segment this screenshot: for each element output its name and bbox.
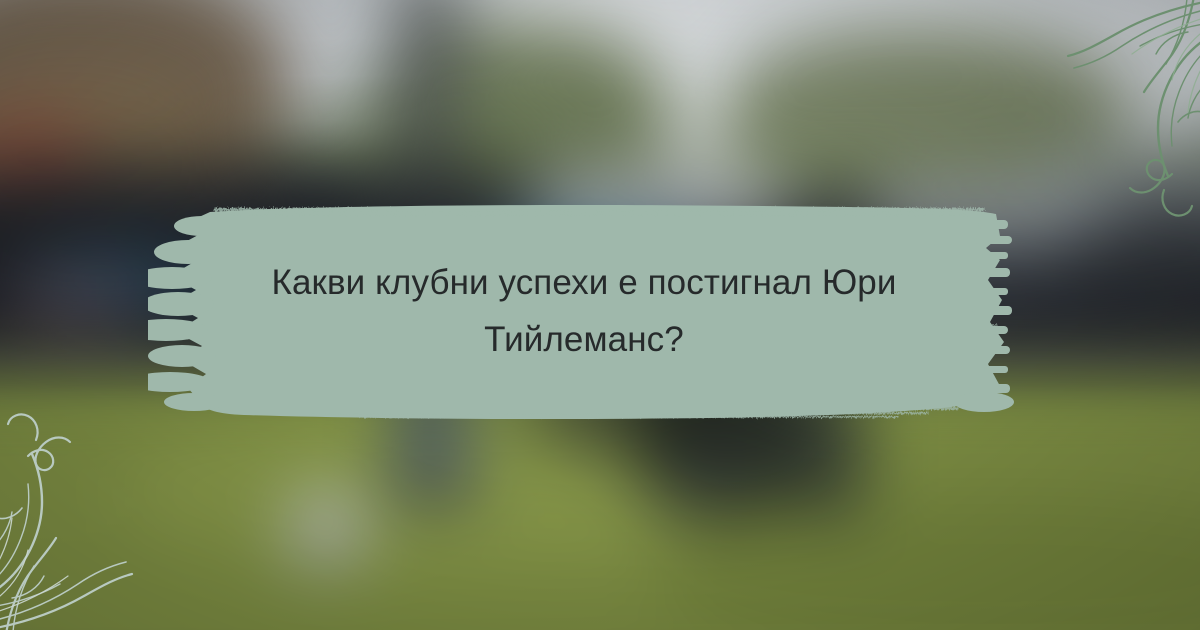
question-text: Какви клубни успехи е постигнал Юри Тийл… xyxy=(208,196,960,430)
question-card: Какви клубни успехи е постигнал Юри Тийл… xyxy=(0,0,1200,630)
question-banner: Какви клубни успехи е постигнал Юри Тийл… xyxy=(148,196,1014,430)
flourish-ornament-bottom-left xyxy=(0,396,146,630)
flourish-ornament-top-right xyxy=(1054,0,1200,234)
